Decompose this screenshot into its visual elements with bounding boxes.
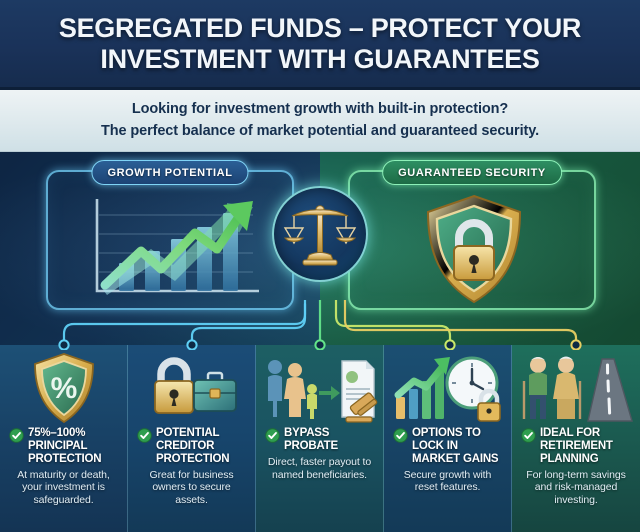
infographic-root: SEGREGATED FUNDS – PROTECT YOUR INVESTME…	[0, 0, 640, 532]
card-title: POTENTIAL CREDITOR PROTECTION	[156, 427, 246, 466]
growth-potential-pill-label: GROWTH POTENTIAL	[107, 167, 232, 179]
card-head: IDEAL FOR RETIREMENT PLANNING	[521, 427, 631, 466]
card-head: 75%–100% PRINCIPAL PROTECTION	[9, 427, 118, 466]
svg-text:%: %	[50, 372, 77, 405]
card-body: POTENTIAL CREDITOR PROTECTION Great for …	[133, 425, 250, 507]
card-body: OPTIONS TO LOCK IN MARKET GAINS Secure g…	[389, 425, 506, 494]
gold-shield-padlock-icon	[350, 186, 598, 312]
check-circle-icon	[265, 428, 280, 448]
balance-scales-icon	[272, 186, 368, 282]
shield-percent-icon: %	[5, 345, 122, 425]
check-circle-icon	[137, 428, 152, 448]
card-description: Direct, faster payout to named beneficia…	[265, 456, 374, 482]
page-title: SEGREGATED FUNDS – PROTECT YOUR INVESTME…	[0, 13, 640, 73]
subtitle-band: Looking for investment growth with built…	[0, 90, 640, 152]
card-title: OPTIONS TO LOCK IN MARKET GAINS	[412, 427, 502, 466]
card-title: 75%–100% PRINCIPAL PROTECTION	[28, 427, 118, 466]
check-circle-icon	[393, 428, 408, 448]
check-circle-icon	[521, 428, 536, 448]
card-body: 75%–100% PRINCIPAL PROTECTION At maturit…	[5, 425, 122, 507]
padlock-briefcase-icon	[133, 345, 250, 425]
card-body: BYPASS PROBATE Direct, faster payout to …	[261, 425, 378, 481]
card-body: IDEAL FOR RETIREMENT PLANNING For long-t…	[517, 425, 635, 507]
growth-potential-pill: GROWTH POTENTIAL	[91, 160, 248, 185]
subtitle-line-2: The perfect balance of market potential …	[101, 121, 539, 143]
card-title: BYPASS PROBATE	[284, 427, 374, 453]
feature-card-strip: % 75%–100% PRINCIPAL PROTECTION At matur…	[0, 345, 640, 532]
retired-couple-road-icon	[517, 345, 635, 425]
card-title: IDEAL FOR RETIREMENT PLANNING	[540, 427, 631, 466]
card-head: BYPASS PROBATE	[265, 427, 374, 453]
feature-card-creditor-protection[interactable]: POTENTIAL CREDITOR PROTECTION Great for …	[128, 345, 256, 532]
feature-card-lock-in-gains[interactable]: OPTIONS TO LOCK IN MARKET GAINS Secure g…	[384, 345, 512, 532]
card-description: For long-term savings and risk-managed i…	[521, 469, 631, 507]
check-circle-icon	[9, 428, 24, 448]
connector-lines	[0, 300, 640, 350]
bar-chart-clock-lock-icon	[389, 345, 506, 425]
feature-card-principal-protection[interactable]: % 75%–100% PRINCIPAL PROTECTION At matur…	[0, 345, 128, 532]
card-head: OPTIONS TO LOCK IN MARKET GAINS	[393, 427, 502, 466]
feature-card-retirement-planning[interactable]: IDEAL FOR RETIREMENT PLANNING For long-t…	[512, 345, 640, 532]
card-description: Great for business owners to secure asse…	[137, 469, 246, 507]
card-description: At maturity or death, your investment is…	[9, 469, 118, 507]
guaranteed-security-pill: GUARANTEED SECURITY	[382, 160, 562, 185]
card-head: POTENTIAL CREDITOR PROTECTION	[137, 427, 246, 466]
card-description: Secure growth with reset features.	[393, 469, 502, 495]
guaranteed-security-panel: GUARANTEED SECURITY	[348, 170, 596, 310]
family-document-gavel-icon	[261, 345, 378, 425]
growth-potential-panel: GROWTH POTENTIAL	[46, 170, 294, 310]
subtitle-line-1: Looking for investment growth with built…	[132, 99, 508, 121]
growth-chart-arrow-icon	[48, 186, 296, 312]
title-bar: SEGREGATED FUNDS – PROTECT YOUR INVESTME…	[0, 0, 640, 90]
guaranteed-security-pill-label: GUARANTEED SECURITY	[398, 167, 546, 179]
feature-card-bypass-probate[interactable]: BYPASS PROBATE Direct, faster payout to …	[256, 345, 384, 532]
